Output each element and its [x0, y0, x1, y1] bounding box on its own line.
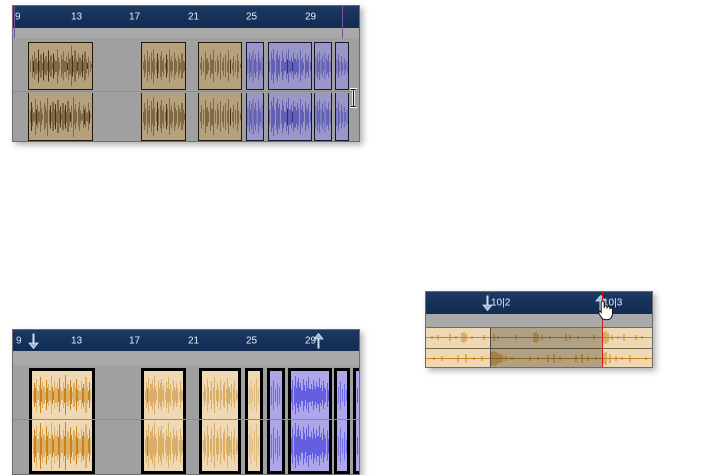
audio-region-selected[interactable]: [335, 42, 349, 90]
ruler-tick-label: 13: [71, 12, 82, 23]
audio-region-selected[interactable]: [334, 420, 350, 474]
waveform-selected: [247, 43, 263, 89]
ruler-tick-label: 21: [188, 12, 199, 23]
ruler-tick-label: 21: [188, 335, 199, 346]
waveform-selected: [336, 93, 348, 140]
audio-region[interactable]: [198, 42, 242, 90]
waveform-selected: [356, 420, 360, 471]
track-row-upper[interactable]: [13, 42, 359, 90]
audio-region-selected[interactable]: [268, 42, 312, 90]
track-row-upper[interactable]: [13, 368, 359, 419]
playhead[interactable]: [602, 292, 603, 368]
waveform: [144, 371, 183, 419]
ruler-tick-label: 25: [246, 335, 257, 346]
audio-region[interactable]: [141, 420, 186, 474]
audio-region[interactable]: [29, 420, 95, 474]
audio-region-selected[interactable]: [288, 420, 332, 474]
ruler-tick-label: 17: [129, 12, 140, 23]
waveform-selected: [269, 93, 311, 140]
audio-region-selected[interactable]: [268, 93, 312, 141]
audio-region[interactable]: [141, 42, 186, 90]
selection-overlay[interactable]: [490, 328, 602, 368]
waveform-selected: [291, 371, 329, 419]
waveform: [248, 420, 260, 471]
ruler-tick-label: 17: [129, 335, 140, 346]
audio-region-selected[interactable]: [246, 93, 264, 141]
timeline-ruler-detail[interactable]: 10|2 10|3: [426, 292, 652, 315]
track-row-lower[interactable]: [13, 93, 359, 141]
waveform-selected: [269, 43, 311, 89]
ruler-tick-label: 25: [246, 12, 257, 23]
audio-region[interactable]: [28, 93, 93, 141]
track-divider: [13, 91, 359, 92]
waveform-selected: [356, 371, 360, 419]
marker-down-arrow-icon[interactable]: [27, 332, 40, 349]
waveform-selected: [337, 371, 347, 419]
audio-region-selected[interactable]: [267, 368, 285, 419]
bottom-timeline-panel[interactable]: 9 13 17 21 25 29: [12, 329, 360, 475]
audio-region-selected[interactable]: [288, 368, 332, 419]
audio-region[interactable]: [29, 368, 95, 419]
track-area-detail[interactable]: [426, 327, 652, 368]
waveform-selected: [270, 371, 282, 419]
waveform: [202, 371, 238, 419]
track-row-lower[interactable]: [13, 420, 359, 474]
audio-region-selected[interactable]: [353, 420, 360, 474]
ruler-subrow-bottom: [13, 351, 359, 366]
audio-region-selected[interactable]: [353, 368, 360, 419]
ruler-tick-label: 9: [15, 12, 21, 23]
audio-region[interactable]: [245, 368, 263, 419]
marker-up-arrow-icon[interactable]: [594, 295, 607, 312]
track-area-bottom[interactable]: [13, 365, 359, 474]
ruler-tick-label: 9: [16, 335, 22, 346]
audio-region-selected[interactable]: [246, 42, 264, 90]
marker-up-arrow-icon[interactable]: [312, 332, 325, 349]
audio-region-selected[interactable]: [334, 368, 350, 419]
top-timeline-panel[interactable]: 9 13 17 21 25 29: [12, 5, 360, 142]
waveform: [248, 371, 260, 419]
audio-region[interactable]: [28, 42, 93, 90]
waveform-selected: [315, 43, 331, 89]
audio-region[interactable]: [245, 420, 263, 474]
audio-region-selected[interactable]: [335, 93, 349, 141]
waveform-selected: [291, 420, 329, 471]
audio-region[interactable]: [199, 420, 241, 474]
timeline-ruler-top[interactable]: 9 13 17 21 25 29: [13, 6, 359, 29]
waveform: [29, 93, 92, 140]
timeline-ruler-bottom[interactable]: 9 13 17 21 25 29: [13, 330, 359, 352]
waveform: [199, 43, 241, 89]
detail-panel[interactable]: 10|2 10|3: [425, 291, 653, 368]
audio-region[interactable]: [141, 93, 186, 141]
selection-edge-left: [490, 328, 491, 368]
ruler-tick-label: 13: [71, 335, 82, 346]
waveform-selected: [336, 43, 348, 89]
ruler-tick-label: 29: [305, 12, 316, 23]
waveform: [202, 420, 238, 471]
audio-region[interactable]: [198, 93, 242, 141]
waveform: [32, 371, 92, 419]
audio-region[interactable]: [199, 368, 241, 419]
waveform: [144, 420, 183, 471]
waveform: [29, 43, 92, 89]
waveform-selected: [337, 420, 347, 471]
audio-region[interactable]: [141, 368, 186, 419]
audio-region-selected[interactable]: [267, 420, 285, 474]
audio-region-selected[interactable]: [314, 42, 332, 90]
waveform: [142, 43, 185, 89]
marker-down-arrow-icon[interactable]: [481, 295, 494, 312]
audio-region-selected[interactable]: [314, 93, 332, 141]
waveform: [142, 93, 185, 140]
ruler-subrow-detail: [426, 314, 652, 328]
waveform: [32, 420, 92, 471]
waveform: [199, 93, 241, 140]
track-area-top[interactable]: [13, 38, 359, 141]
waveform-selected: [315, 93, 331, 140]
waveform-selected: [247, 93, 263, 140]
waveform-selected: [270, 420, 282, 471]
